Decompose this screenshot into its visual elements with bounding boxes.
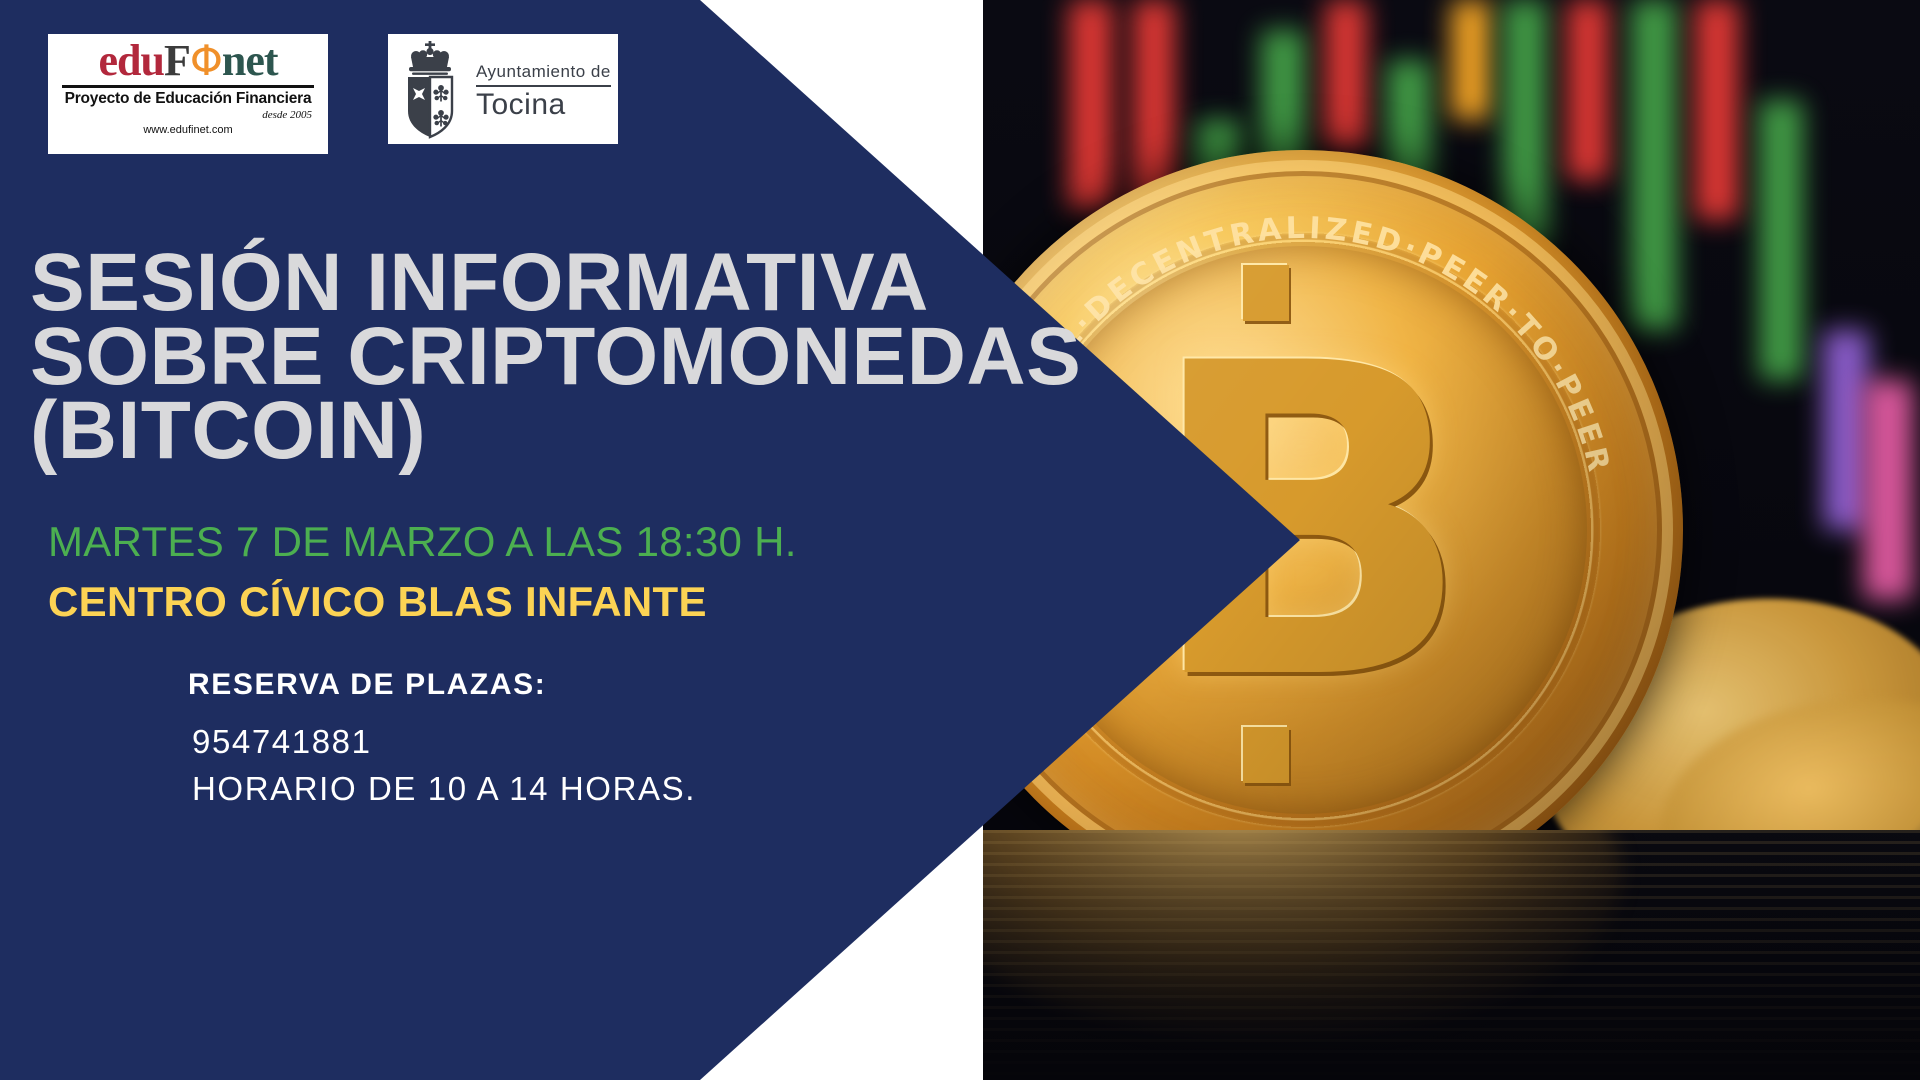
poster-root: DIGITAL·DECENTRALIZED·PEER·TO·PEER B edu… bbox=[0, 0, 1920, 1080]
edufinet-divider bbox=[62, 85, 314, 88]
chart-candle bbox=[1759, 100, 1803, 380]
edufinet-since: desde 2005 bbox=[56, 109, 320, 121]
tocina-text: Ayuntamiento de Tocina bbox=[476, 56, 611, 122]
booking-heading: RESERVA DE PLAZAS: bbox=[188, 668, 546, 702]
logo-row: eduFΦnet Proyecto de Educación Financier… bbox=[48, 34, 618, 154]
edufinet-wordmark: eduFΦnet bbox=[56, 38, 320, 84]
event-date: MARTES 7 DE MARZO A LAS 18:30 H. bbox=[48, 518, 797, 566]
edufinet-tagline: Proyecto de Educación Financiera bbox=[56, 90, 320, 108]
edufinet-phi-icon: Φ bbox=[190, 36, 222, 85]
edufinet-net: net bbox=[222, 36, 278, 85]
edufinet-edu: edu bbox=[98, 36, 163, 85]
poster-content: eduFΦnet Proyecto de Educación Financier… bbox=[0, 0, 1000, 1080]
page-title: SESIÓN INFORMATIVA SOBRE CRIPTOMONEDAS (… bbox=[30, 246, 970, 468]
tocina-divider bbox=[476, 85, 611, 87]
chart-candle bbox=[1325, 0, 1367, 150]
tocina-logo: Ayuntamiento de Tocina bbox=[388, 34, 618, 144]
title-line-1: SESIÓN INFORMATIVA bbox=[30, 246, 970, 320]
booking-hours: HORARIO DE 10 A 14 HORAS. bbox=[192, 770, 696, 808]
chart-candle bbox=[1451, 0, 1491, 120]
title-line-2: SOBRE CRIPTOMONEDAS bbox=[30, 320, 970, 394]
edufinet-logo: eduFΦnet Proyecto de Educación Financier… bbox=[48, 34, 328, 154]
tocina-shield-icon bbox=[394, 39, 466, 139]
chart-candle bbox=[1863, 380, 1913, 600]
tocina-ayuntamiento-label: Ayuntamiento de bbox=[476, 62, 611, 82]
edufinet-url: www.edufinet.com bbox=[56, 124, 320, 136]
edufinet-f: F bbox=[164, 36, 190, 85]
booking-phone: 954741881 bbox=[192, 723, 372, 761]
chart-candle bbox=[1695, 0, 1739, 220]
tocina-name-label: Tocina bbox=[476, 88, 611, 122]
event-venue: CENTRO CÍVICO BLAS INFANTE bbox=[48, 578, 707, 626]
title-line-3: (BITCOIN) bbox=[30, 394, 970, 468]
coin-reflection bbox=[983, 830, 1920, 1080]
